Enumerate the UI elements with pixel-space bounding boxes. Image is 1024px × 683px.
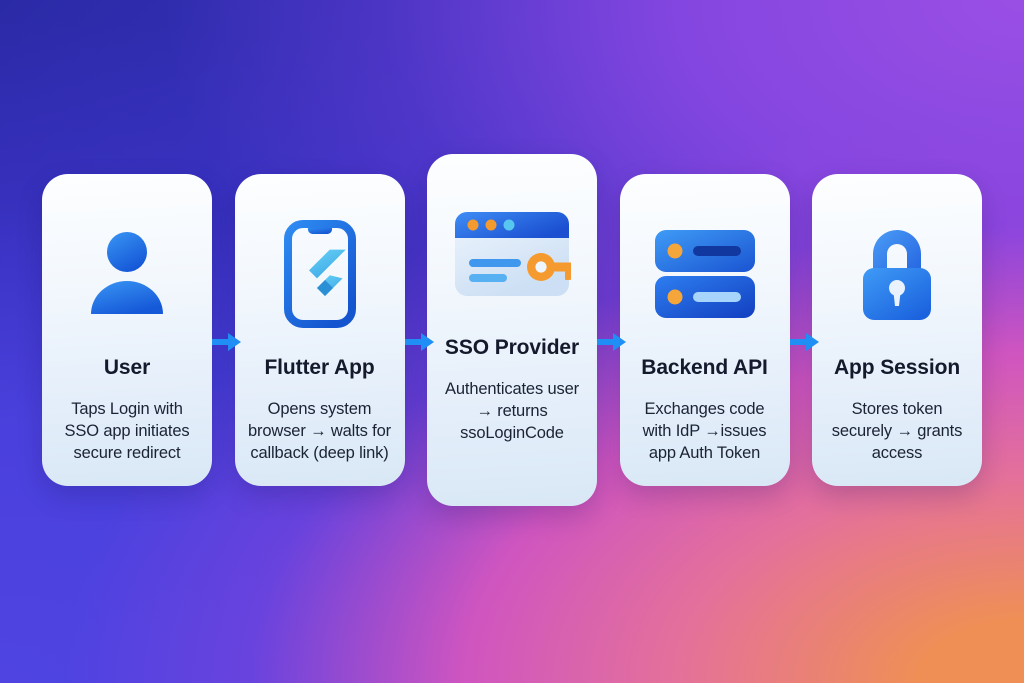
flow-step-description: Exchanges code with IdP →issues app Auth… <box>630 398 780 464</box>
diagram-canvas: User Taps Login with SSO app initiates s… <box>0 0 1024 683</box>
flow-step-title: Backend API <box>641 356 768 381</box>
flow-step-title: User <box>104 356 150 381</box>
flow-step-description: Authenticates user → returns ssoLoginCod… <box>437 378 587 444</box>
user-avatar-icon <box>79 218 175 330</box>
flow-step-user[interactable]: User Taps Login with SSO app initiates s… <box>42 174 212 486</box>
server-rack-icon <box>653 218 757 330</box>
flow-step-description: Opens system browser → walts for callbac… <box>245 398 395 464</box>
flow-step-sso-provider[interactable]: SSO Provider Authenticates user → return… <box>427 154 597 506</box>
browser-key-icon <box>453 198 571 310</box>
flow-step-title: SSO Provider <box>445 336 579 361</box>
flow-step-description: Taps Login with SSO app initiates secure… <box>52 398 202 464</box>
arrow-right-icon <box>212 331 234 353</box>
flow-step-flutter-app[interactable]: Flutter App Opens system browser → walts… <box>235 174 405 486</box>
flow-step-backend-api[interactable]: Backend API Exchanges code with IdP →iss… <box>620 174 790 486</box>
flow-step-description: Stores token securely → grants access <box>822 398 972 464</box>
flow-step-title: Flutter App <box>264 356 374 381</box>
padlock-icon <box>854 218 940 330</box>
arrow-right-icon <box>405 331 427 353</box>
flutter-phone-icon <box>284 218 356 330</box>
flow-steps-row: User Taps Login with SSO app initiates s… <box>42 154 982 506</box>
flow-step-title: App Session <box>834 356 960 381</box>
arrow-right-icon <box>790 331 812 353</box>
flow-step-app-session[interactable]: App Session Stores token securely → gran… <box>812 174 982 486</box>
arrow-right-icon <box>597 331 619 353</box>
